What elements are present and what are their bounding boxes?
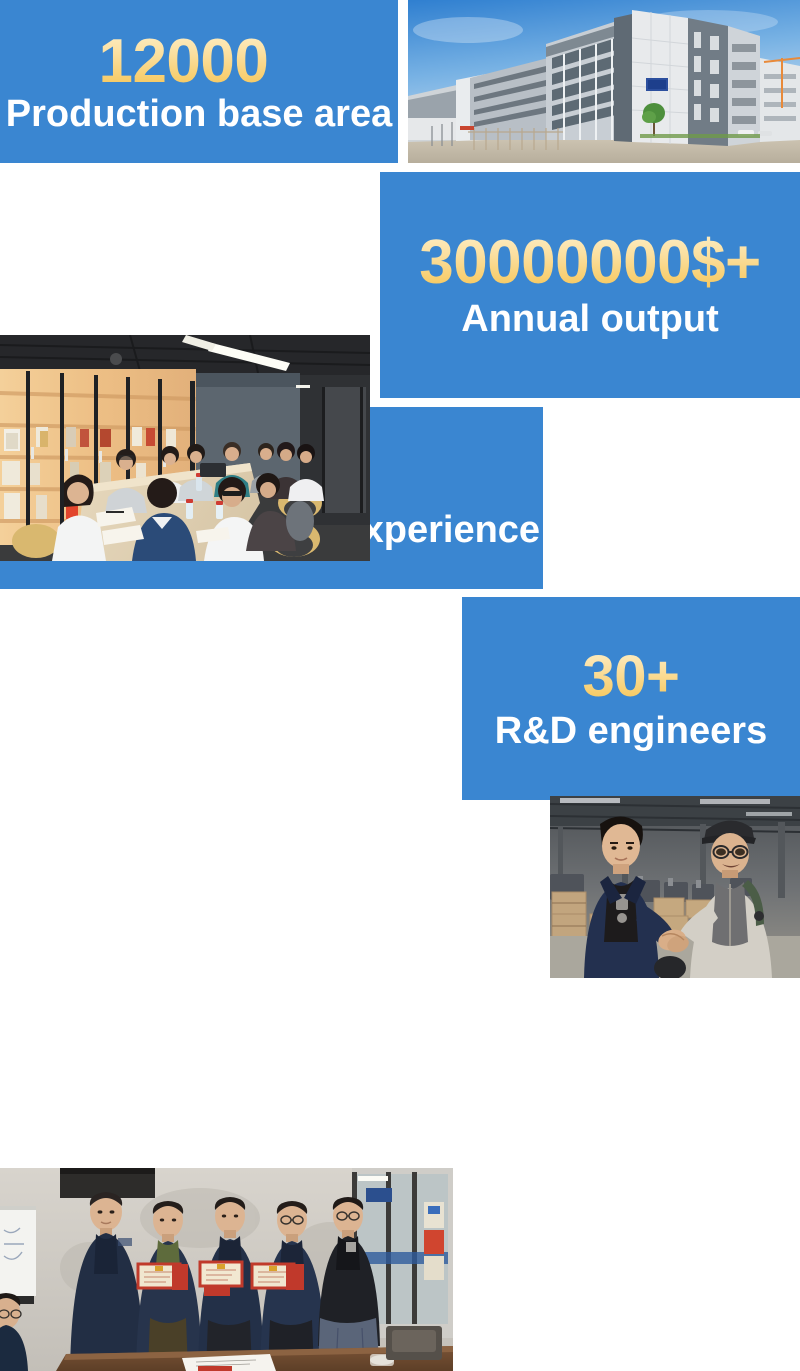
stat-panel-production-base-area: 12000m2 Production base area [0,0,398,163]
stat-number-production-base-area: 12000m2 [98,31,299,93]
meeting-room-illustration [0,335,370,561]
stat-panel-rd-engineers: 30+ R&D engineers [462,597,800,800]
stat-number-annual-output: 30000000$+ [419,232,761,294]
stat-panel-annual-output: 30000000$+ Annual output [380,172,800,398]
stat-caption-production-base-area: Production base area [6,95,392,133]
handshake-illustration: ◼◼ [550,796,800,978]
handshake-warehouse-photo: ◼◼ [550,796,800,978]
stats-collage: 12000m2 Production base area 30000000$+ … [0,0,800,800]
award-ceremony-illustration [0,1168,453,1371]
meeting-room-photo [0,335,370,561]
unit-square-metre: m2 [268,56,299,83]
factory-building-illustration [408,0,800,163]
factory-building-photo [408,0,800,163]
stat-number-rd-engineers: 30+ [583,648,680,706]
award-ceremony-photo [0,1168,453,1371]
stat-caption-rd-engineers: R&D engineers [495,712,767,750]
stat-caption-annual-output: Annual output [461,300,718,338]
